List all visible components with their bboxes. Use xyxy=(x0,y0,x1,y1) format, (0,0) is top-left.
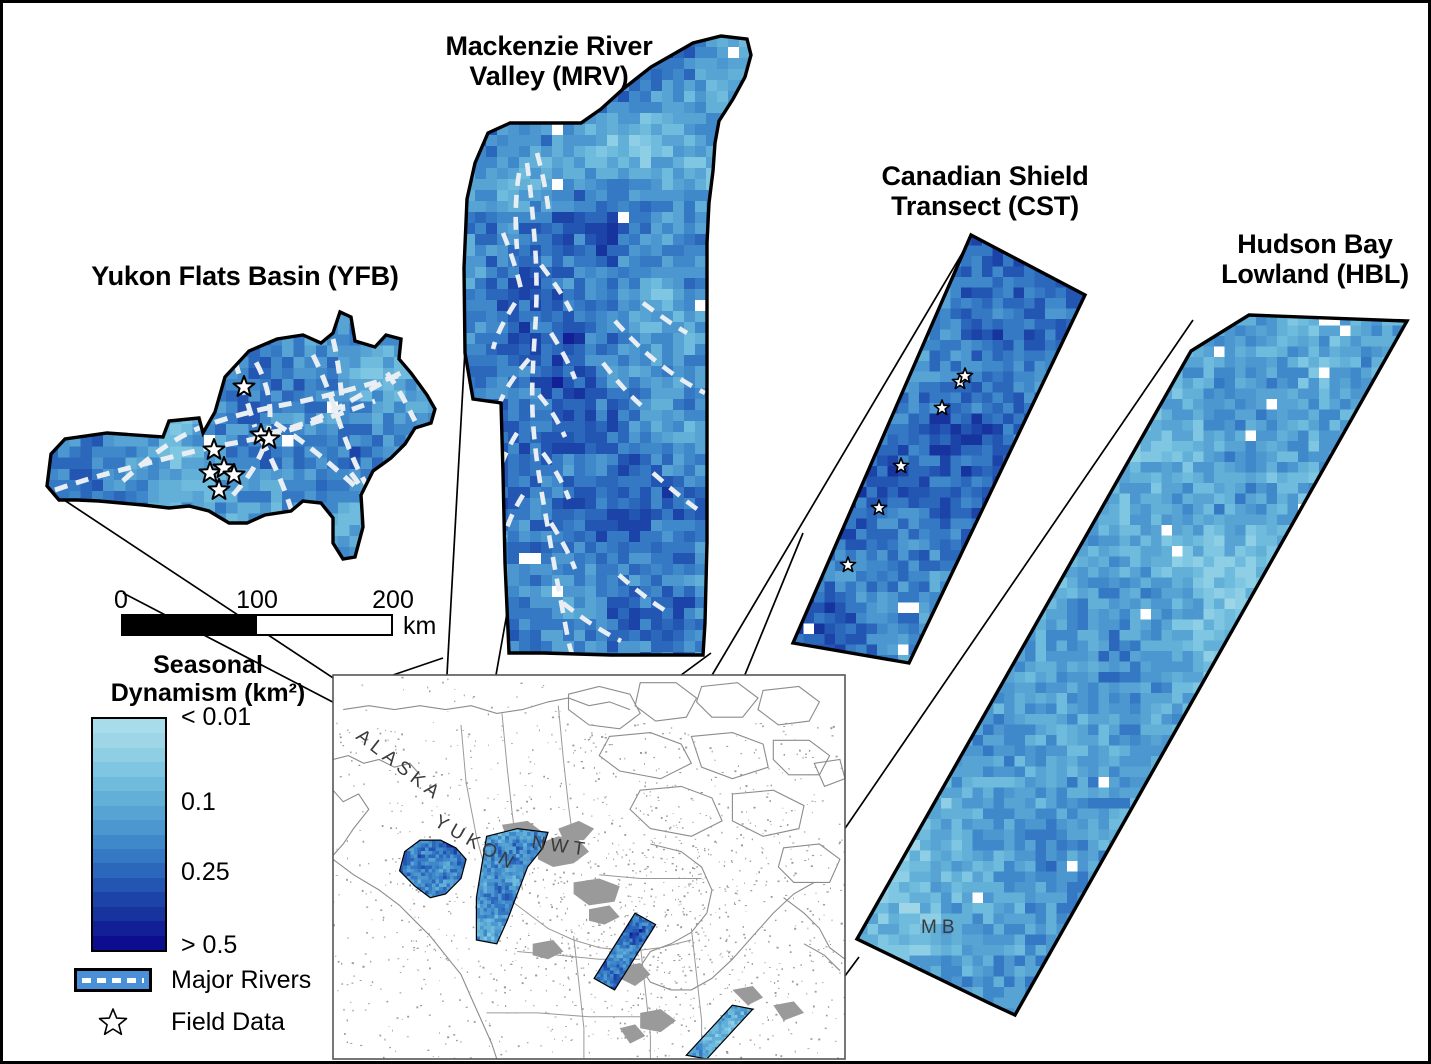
major-river xyxy=(537,153,549,215)
panel-canadian-shield-transect xyxy=(793,235,1098,677)
major-river xyxy=(527,163,573,655)
major-river xyxy=(503,233,521,289)
major-river xyxy=(55,401,375,490)
scale-bar-ticks: 0 100 200 xyxy=(121,586,421,614)
inset-region-hbl xyxy=(686,1005,753,1059)
inset-region-mrv xyxy=(476,829,548,944)
field-data-swatch xyxy=(63,1005,163,1039)
ramp-step-0 xyxy=(93,719,165,733)
ramp-step-15 xyxy=(93,936,165,950)
ramp-label-2: 0.25 xyxy=(181,858,230,887)
major-river xyxy=(233,357,270,495)
ramp-step-8 xyxy=(93,835,165,849)
color-ramp xyxy=(91,717,167,952)
panel-title-mrv: Mackenzie River Valley (MRV) xyxy=(389,31,709,91)
major-river xyxy=(333,339,343,411)
inset-region-yfb xyxy=(400,840,467,898)
ramp-step-1 xyxy=(93,733,165,747)
inset-region-cst xyxy=(594,913,656,990)
ramp-step-7 xyxy=(93,820,165,834)
major-rivers-label: Major Rivers xyxy=(163,966,311,995)
figure-root: ALASKAYUKONNWTMB Yukon Flats Basin (YFB)… xyxy=(0,0,1431,1064)
ramp-step-14 xyxy=(93,921,165,935)
major-river xyxy=(351,473,387,563)
panel-mackenzie-river-valley xyxy=(464,36,773,675)
field-site-star xyxy=(957,368,972,383)
inset-map-frame xyxy=(333,675,845,1059)
color-ramp-labels: < 0.010.10.25> 0.5 xyxy=(181,717,351,952)
major-river xyxy=(123,375,401,481)
star-icon xyxy=(96,1005,130,1039)
inset-label-yukon: YUKON xyxy=(431,811,522,875)
field-site-star xyxy=(209,479,230,499)
major-river xyxy=(503,495,523,541)
major-river xyxy=(516,173,519,249)
major-river xyxy=(653,473,697,509)
legend-title: Seasonal Dynamism (km²) xyxy=(63,651,353,707)
field-site-star xyxy=(259,428,280,448)
panel-title-cst: Canadian Shield Transect (CST) xyxy=(835,161,1135,221)
major-river xyxy=(619,575,669,613)
panel-hudson-bay-lowland xyxy=(857,315,1425,1030)
major-river xyxy=(643,303,687,333)
panel-title-yfb: Yukon Flats Basin (YFB) xyxy=(55,261,435,291)
field-site-star xyxy=(893,458,908,473)
scale-tick-0: 0 xyxy=(114,586,128,615)
major-river xyxy=(539,395,565,437)
major-river xyxy=(541,265,571,311)
ramp-step-13 xyxy=(93,907,165,921)
scale-bar-unit: km xyxy=(403,612,436,641)
field-site-star xyxy=(204,439,225,459)
ramp-step-4 xyxy=(93,777,165,791)
field-site-star xyxy=(224,464,245,484)
inset-label-mb: MB xyxy=(921,917,960,938)
inset-map xyxy=(333,675,847,1063)
field-data-label: Field Data xyxy=(163,1008,285,1037)
scale-bar-graphic xyxy=(121,614,393,636)
ramp-step-11 xyxy=(93,878,165,892)
ramp-step-10 xyxy=(93,863,165,877)
ramp-label-0: < 0.01 xyxy=(181,703,251,732)
field-site-star xyxy=(952,374,967,389)
ramp-label-3: > 0.5 xyxy=(181,931,237,960)
ramp-step-6 xyxy=(93,806,165,820)
field-site-star xyxy=(214,457,235,477)
inset-label-nwt: NWT xyxy=(530,832,591,861)
major-river xyxy=(543,453,569,499)
major-river xyxy=(497,433,517,479)
major-river xyxy=(493,303,515,349)
major-river xyxy=(603,363,643,407)
field-site-star xyxy=(934,400,949,415)
inset-region-labels: ALASKAYUKONNWTMB xyxy=(352,725,960,938)
major-river xyxy=(269,365,417,433)
field-site-star xyxy=(251,424,272,444)
field-site-star xyxy=(200,462,221,482)
scale-bar-fill xyxy=(123,616,257,634)
scale-tick-100: 100 xyxy=(236,586,278,615)
major-river xyxy=(615,321,705,393)
ramp-step-5 xyxy=(93,791,165,805)
legend-row-rivers: Major Rivers xyxy=(63,963,353,997)
major-river xyxy=(235,361,255,427)
scale-bar: 0 100 200 km xyxy=(121,586,421,636)
field-site-star xyxy=(234,376,255,396)
major-river xyxy=(261,439,313,569)
major-river xyxy=(275,423,399,519)
legend: Seasonal Dynamism (km²) < 0.010.10.25> 0… xyxy=(63,651,353,1039)
major-river xyxy=(563,603,621,641)
major-river xyxy=(551,523,575,569)
panel-yukon-flats-basin xyxy=(47,312,451,581)
panel-title-hbl: Hudson Bay Lowland (HBL) xyxy=(1185,229,1431,289)
legend-row-field-data: Field Data xyxy=(63,1005,353,1039)
ramp-label-1: 0.1 xyxy=(181,788,216,817)
major-river xyxy=(313,355,369,489)
dashed-line-icon xyxy=(82,978,144,983)
ramp-step-12 xyxy=(93,892,165,906)
major-river xyxy=(499,359,529,405)
major-river xyxy=(387,373,415,421)
major-rivers-swatch xyxy=(63,968,163,992)
field-site-star xyxy=(871,500,886,515)
inset-label-alaska: ALASKA xyxy=(352,725,447,806)
field-site-star xyxy=(840,557,855,572)
ramp-step-9 xyxy=(93,849,165,863)
scale-tick-200: 200 xyxy=(372,586,414,615)
ramp-step-3 xyxy=(93,762,165,776)
major-river xyxy=(551,333,575,379)
ramp-step-2 xyxy=(93,748,165,762)
